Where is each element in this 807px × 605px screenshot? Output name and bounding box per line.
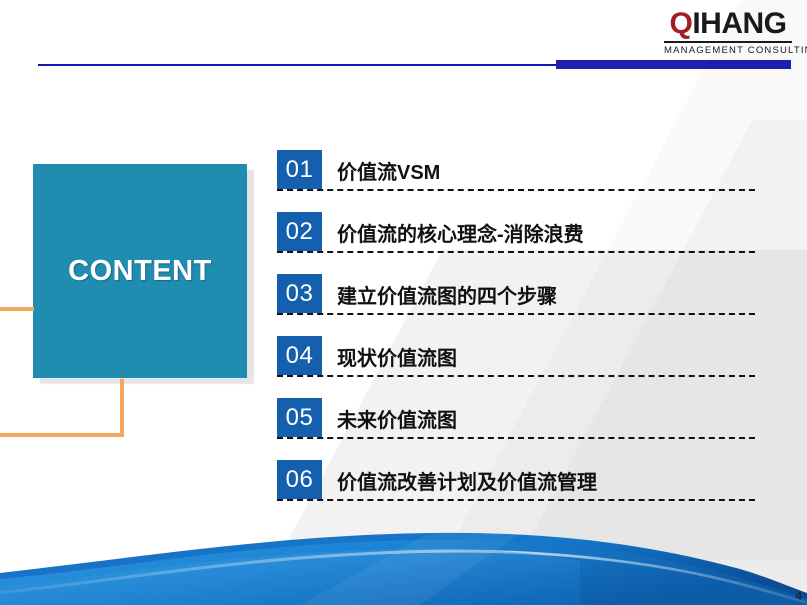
agenda-number-label: 06 bbox=[286, 468, 314, 492]
slide-canvas: QIHANG MANAGEMENT CONSULTING CONTENT 01 … bbox=[0, 0, 807, 605]
agenda-number-label: 03 bbox=[286, 282, 314, 306]
header-rule-thin bbox=[38, 64, 558, 66]
agenda-item-title: 现状价值流图 bbox=[337, 342, 457, 371]
connector-line-vertical bbox=[120, 379, 124, 437]
wave-layer-main bbox=[0, 540, 807, 605]
logo-wordmark-rest: IHANG bbox=[692, 7, 786, 40]
agenda-item-title: 价值流改善计划及价值流管理 bbox=[337, 466, 597, 495]
agenda-divider bbox=[277, 251, 755, 253]
agenda-divider bbox=[277, 313, 755, 315]
agenda-item-title: 价值流的核心理念-消除浪费 bbox=[337, 218, 584, 247]
wave-layer-back bbox=[0, 533, 807, 605]
logo-initial-letter: Q bbox=[669, 7, 692, 40]
agenda-divider bbox=[277, 499, 755, 501]
agenda-item-02[interactable]: 02 价值流的核心理念-消除浪费 bbox=[277, 210, 757, 272]
connector-line-left bbox=[0, 307, 34, 311]
agenda-item-01[interactable]: 01 价值流VSM bbox=[277, 148, 757, 210]
wave-highlight-ribbon bbox=[0, 550, 807, 604]
agenda-item-title: 建立价值流图的四个步骤 bbox=[337, 280, 557, 309]
agenda-item-05[interactable]: 05 未来价值流图 bbox=[277, 396, 757, 458]
agenda-number-badge: 05 bbox=[277, 398, 322, 437]
wave-layer-front bbox=[0, 549, 580, 605]
wave-diagonal-wedge bbox=[300, 533, 520, 605]
logo-tagline: MANAGEMENT CONSULTING bbox=[664, 45, 792, 56]
logo-divider bbox=[664, 41, 792, 43]
agenda-divider bbox=[277, 375, 755, 377]
company-logo: QIHANG MANAGEMENT CONSULTING bbox=[664, 8, 792, 56]
agenda-item-06[interactable]: 06 价值流改善计划及价值流管理 bbox=[277, 458, 757, 520]
connector-line-bottom bbox=[0, 433, 124, 437]
agenda-number-label: 05 bbox=[286, 406, 314, 430]
agenda-divider bbox=[277, 437, 755, 439]
content-panel-label: CONTENT bbox=[68, 255, 212, 288]
agenda-number-badge: 02 bbox=[277, 212, 322, 251]
agenda-number-badge: 04 bbox=[277, 336, 322, 375]
agenda-divider bbox=[277, 189, 755, 191]
header-rule-thick bbox=[556, 60, 791, 69]
agenda-number-label: 01 bbox=[286, 158, 314, 182]
page-number: 4 bbox=[795, 589, 802, 603]
agenda-item-03[interactable]: 03 建立价值流图的四个步骤 bbox=[277, 272, 757, 334]
logo-wordmark: QIHANG bbox=[664, 8, 792, 40]
content-panel: CONTENT bbox=[33, 164, 247, 378]
agenda-item-title: 未来价值流图 bbox=[337, 404, 457, 433]
agenda-number-label: 04 bbox=[286, 344, 314, 368]
agenda-number-badge: 03 bbox=[277, 274, 322, 313]
agenda-number-badge: 06 bbox=[277, 460, 322, 499]
agenda-item-title: 价值流VSM bbox=[337, 156, 440, 185]
agenda-number-label: 02 bbox=[286, 220, 314, 244]
agenda-item-04[interactable]: 04 现状价值流图 bbox=[277, 334, 757, 396]
agenda-list: 01 价值流VSM 02 价值流的核心理念-消除浪费 03 建立价值流图的四个步… bbox=[277, 148, 757, 520]
agenda-number-badge: 01 bbox=[277, 150, 322, 189]
